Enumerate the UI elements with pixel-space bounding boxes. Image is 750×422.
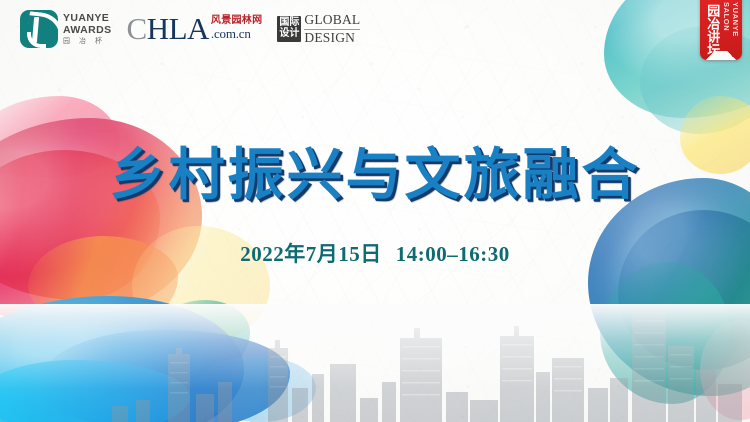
chla-logo[interactable]: CHLA 风景园林网 .com.cn	[127, 15, 263, 44]
salon-banner-notch	[700, 51, 742, 60]
global-design-logo[interactable]: 国际 设计 GLOBAL DESIGN	[277, 13, 360, 44]
chla-chinese: 风景园林网	[211, 16, 263, 26]
yuanye-line2: AWARDS	[63, 25, 112, 36]
yuanye-line1: YUANYE	[63, 13, 112, 24]
yuanye-salon-banner[interactable]: 园冶讲坛 YUANYE SALON	[700, 0, 742, 60]
chla-domain: .com.cn	[211, 27, 263, 40]
global-design-line1: GLOBAL	[304, 13, 360, 27]
event-poster: YUANYE AWARDS 园 冶 杯 CHLA 风景园林网 .com.cn 国…	[0, 0, 750, 422]
chla-letter-c: C	[127, 11, 147, 46]
salon-banner-chinese: 园冶讲坛	[705, 4, 718, 56]
yuanye-chinese: 园 冶 杯	[63, 38, 112, 45]
page-title: 乡村振兴与文旅融合	[0, 148, 750, 204]
event-datetime: 2022年7月15日14:00–16:30	[0, 238, 750, 268]
chla-sub-block: 风景园林网 .com.cn	[211, 16, 263, 43]
yuanye-awards-logo[interactable]: YUANYE AWARDS 园 冶 杯	[20, 10, 112, 48]
global-design-chinese-box: 国际 设计	[277, 16, 301, 42]
global-design-english: GLOBAL DESIGN	[304, 13, 360, 44]
yuanye-logo-text: YUANYE AWARDS 园 冶 杯	[63, 13, 112, 45]
global-design-chinese-line2: 设计	[279, 29, 299, 40]
logo-bar: YUANYE AWARDS 园 冶 杯 CHLA 风景园林网 .com.cn 国…	[20, 10, 360, 48]
event-time: 14:00–16:30	[396, 242, 510, 266]
city-skyline-icon	[0, 312, 750, 422]
chla-wordmark: CHLA	[127, 15, 209, 44]
event-date: 2022年7月15日	[240, 242, 382, 266]
yuanye-leaf-icon	[20, 10, 58, 48]
chla-letters-hla: HLA	[147, 11, 209, 46]
global-design-line2: DESIGN	[304, 31, 360, 45]
